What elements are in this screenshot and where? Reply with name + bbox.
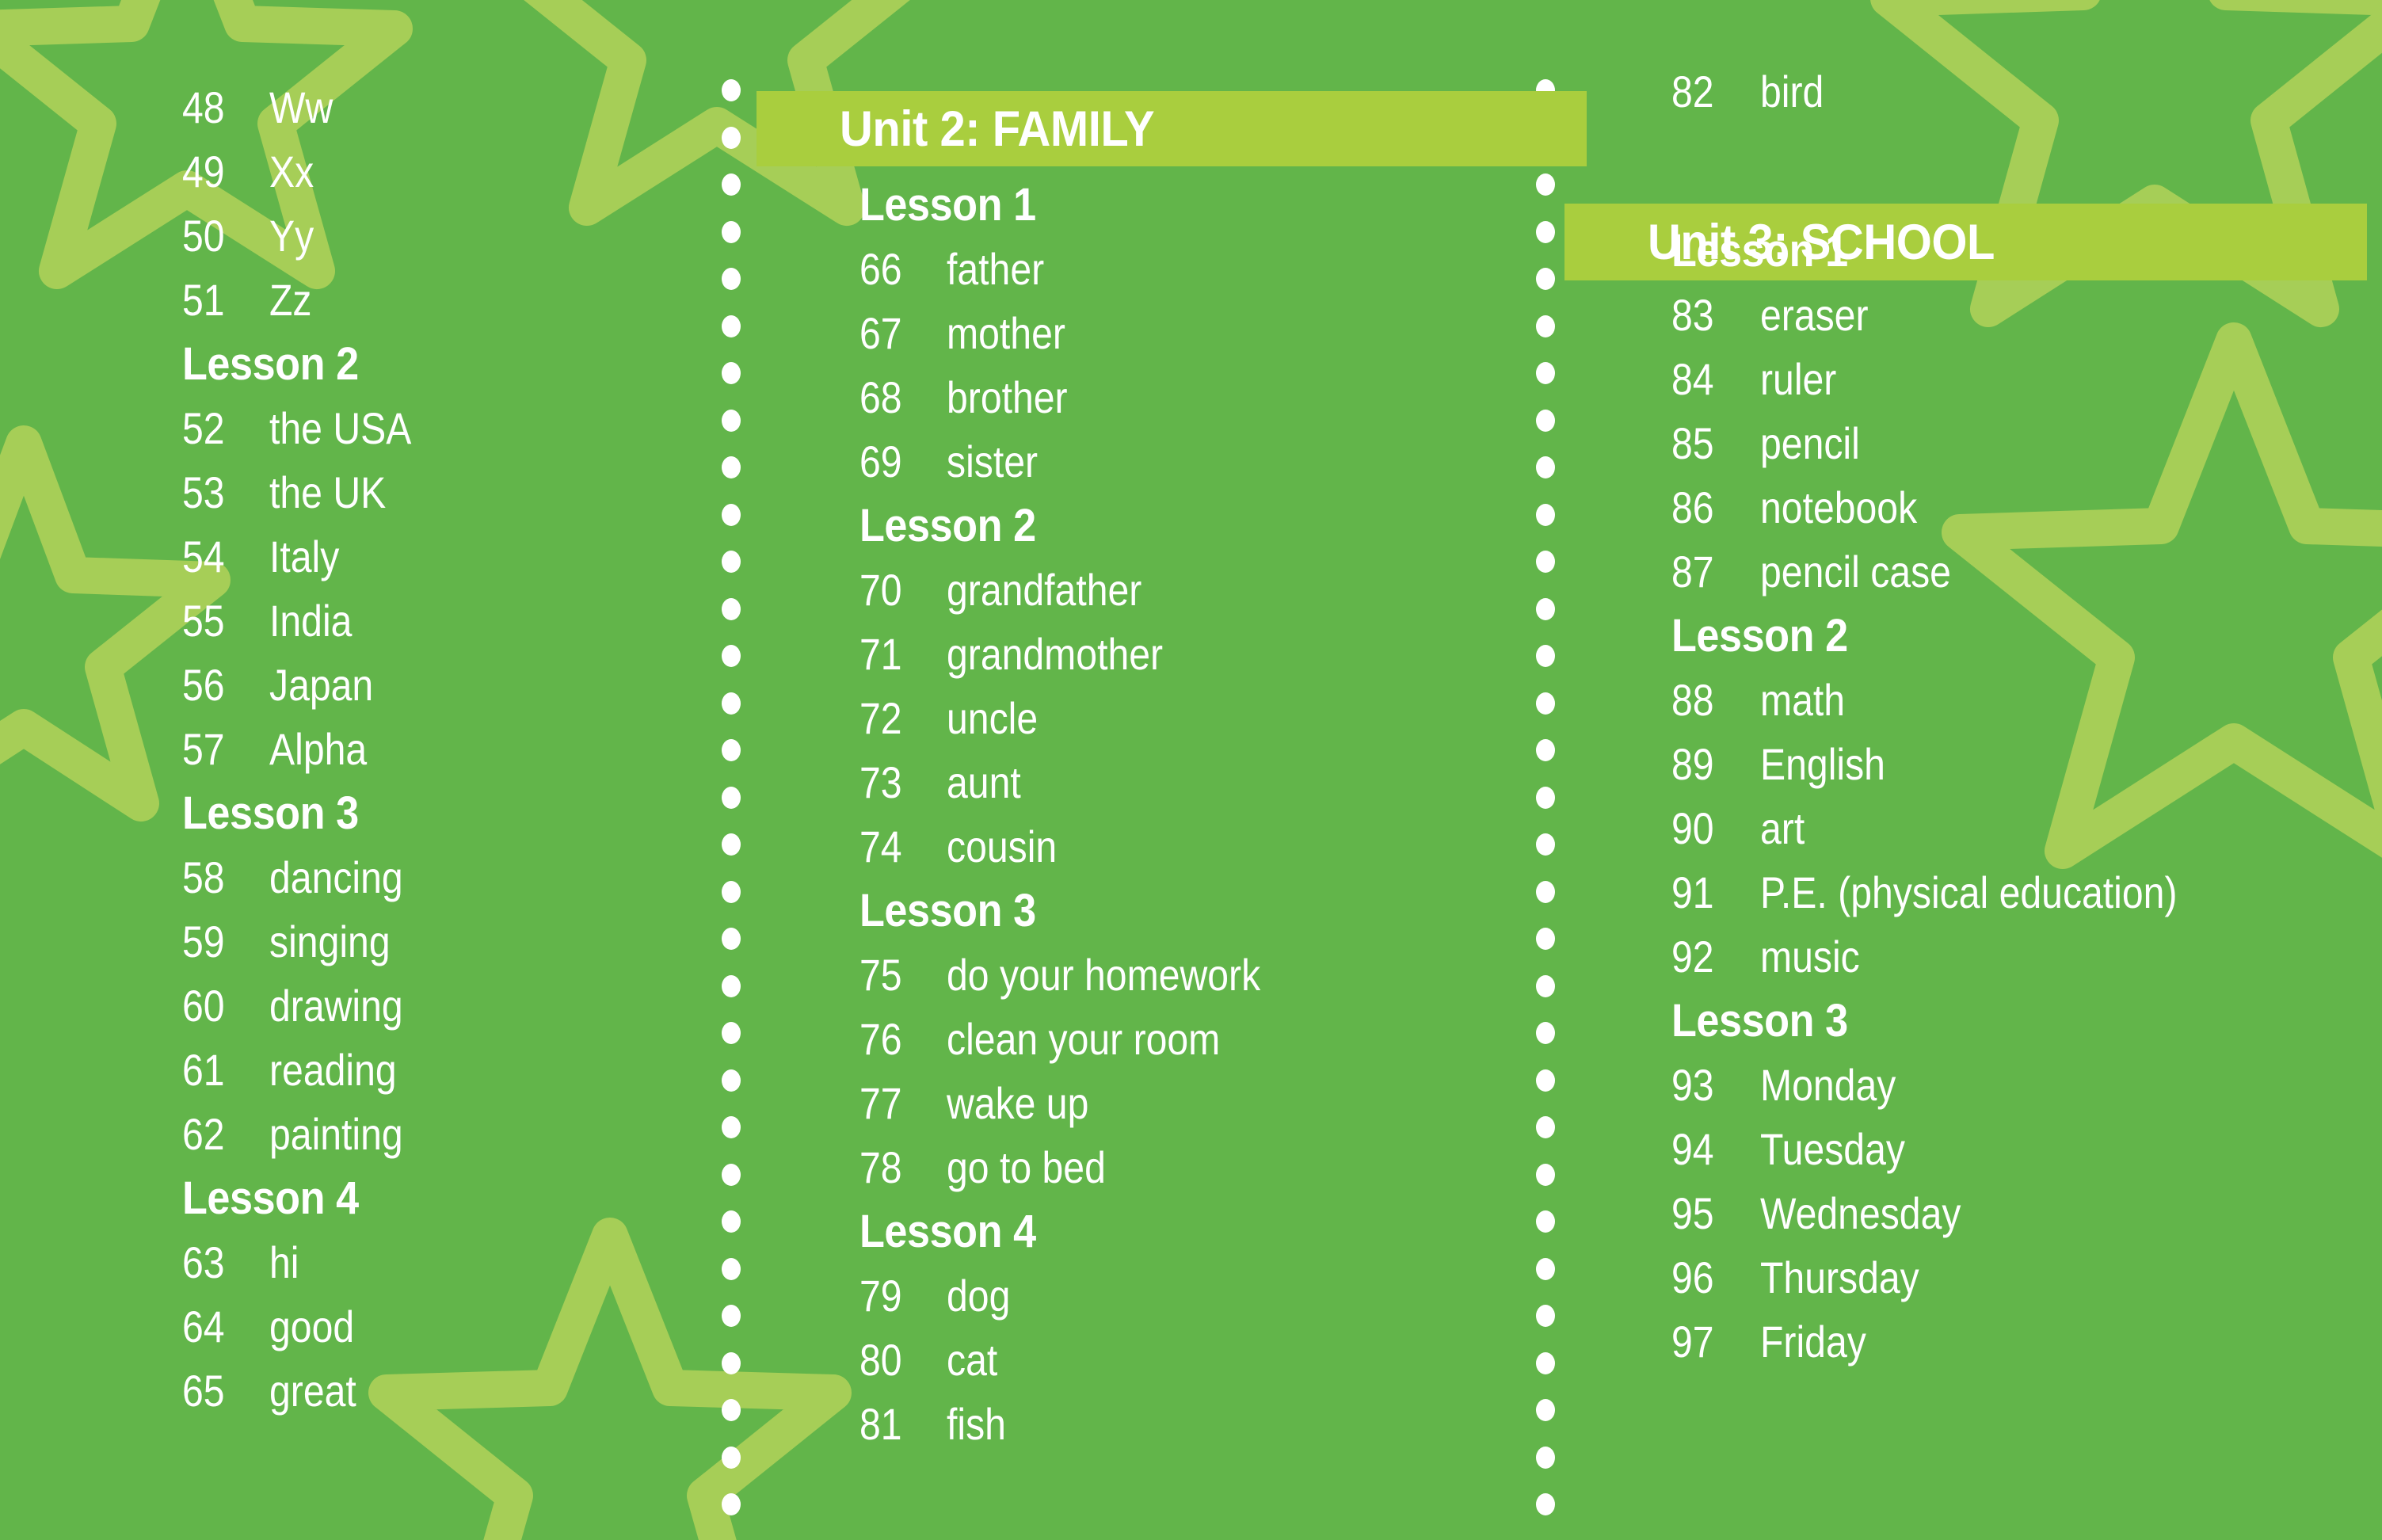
divider-dot	[1536, 504, 1555, 526]
divider-dot	[722, 692, 741, 715]
divider-dot	[1536, 928, 1555, 950]
vocab-number: 55	[182, 589, 257, 653]
divider-dot	[722, 1069, 741, 1092]
vocab-row: 69sister	[859, 429, 1525, 494]
vocab-word: Japan	[269, 653, 373, 717]
vocab-word: hi	[269, 1230, 299, 1294]
vocab-word: Zz	[269, 268, 312, 332]
vocab-number: 76	[859, 1007, 935, 1071]
divider-dot	[722, 221, 741, 243]
vocab-word: Yy	[269, 204, 314, 268]
vocab-word: Ww	[269, 75, 333, 139]
vocab-row: 66father	[859, 237, 1525, 301]
vocab-row: 49Xx	[182, 139, 705, 204]
vocab-row: 88math	[1671, 668, 2369, 732]
vocab-row: 80cat	[859, 1328, 1525, 1392]
vocab-row: 84ruler	[1671, 347, 2369, 411]
vocab-number: 49	[182, 139, 257, 204]
divider-dot	[1536, 551, 1555, 573]
vocab-column-3: 82birdLesson 183eraser84ruler85pencil86n…	[1671, 0, 2369, 1374]
vocab-row: 77wake up	[859, 1071, 1525, 1135]
divider-dot	[1536, 173, 1555, 196]
divider-dot	[1536, 1210, 1555, 1233]
vocab-column-2: Lesson 166father67mother68brother69siste…	[859, 0, 1525, 1456]
vocab-word: Friday	[1760, 1309, 1866, 1374]
divider-dot	[1536, 1447, 1555, 1469]
vocab-word: uncle	[947, 686, 1038, 750]
vocab-row: 52the USA	[182, 396, 705, 460]
vocab-row: 62painting	[182, 1102, 705, 1166]
column-divider-left	[721, 79, 741, 1473]
vocab-row: 94Tuesday	[1671, 1117, 2369, 1181]
vocab-word: English	[1760, 732, 1885, 796]
vocab-number: 79	[859, 1264, 935, 1328]
divider-dot	[722, 456, 741, 478]
vocab-row: 60drawing	[182, 974, 705, 1038]
vocab-row: 67mother	[859, 301, 1525, 365]
vocabulary-list-page: Unit 2: FAMILY Unit 3: SCHOOL 48Ww49Xx50…	[0, 0, 2382, 1540]
vocab-word: P.E. (physical education)	[1760, 860, 2177, 924]
vocab-number: 69	[859, 429, 935, 494]
vocab-row: 55India	[182, 589, 705, 653]
vocab-number: 83	[1671, 283, 1747, 347]
vocab-row: 93Monday	[1671, 1053, 2369, 1117]
vocab-number: 59	[182, 909, 257, 974]
divider-dot	[1536, 1399, 1555, 1421]
vocab-word: drawing	[269, 974, 403, 1038]
divider-dot	[1536, 645, 1555, 667]
vocab-word: pencil case	[1760, 539, 1951, 604]
vocab-word: Xx	[269, 139, 314, 204]
vocab-row: 78go to bed	[859, 1135, 1525, 1199]
vocab-number: 70	[859, 558, 935, 622]
vocab-row: 71grandmother	[859, 622, 1525, 686]
vocab-row: 48Ww	[182, 75, 705, 139]
vocab-word: singing	[269, 909, 391, 974]
vocab-word: sister	[947, 429, 1038, 494]
vocab-number: 57	[182, 717, 257, 781]
divider-dot	[722, 1258, 741, 1280]
divider-dot	[1536, 1493, 1555, 1515]
vocab-word: ruler	[1760, 347, 1836, 411]
vocab-number: 67	[859, 301, 935, 365]
vocab-word: dancing	[269, 845, 403, 909]
vocab-word: Thursday	[1760, 1245, 1919, 1309]
vocab-row: 70grandfather	[859, 558, 1525, 622]
vocab-number: 53	[182, 460, 257, 524]
vocab-row: 50Yy	[182, 204, 705, 268]
vocab-number: 89	[1671, 732, 1747, 796]
vocab-number: 86	[1671, 475, 1747, 539]
vocab-word: eraser	[1760, 283, 1869, 347]
vocab-word: good	[269, 1294, 354, 1359]
vocab-row: 53the UK	[182, 460, 705, 524]
vocab-number: 65	[182, 1359, 257, 1423]
vocab-word: music	[1760, 924, 1860, 989]
divider-dot	[722, 173, 741, 196]
divider-dot	[1536, 881, 1555, 903]
vocab-number: 56	[182, 653, 257, 717]
vocab-number: 52	[182, 396, 257, 460]
divider-dot	[722, 1116, 741, 1138]
divider-dot	[1536, 410, 1555, 432]
unit-header-gap	[1671, 124, 2369, 219]
vocab-word: painting	[269, 1102, 403, 1166]
vocab-column-1: 48Ww49Xx50Yy51ZzLesson 252the USA53the U…	[182, 0, 705, 1423]
vocab-number: 74	[859, 814, 935, 879]
divider-dot	[722, 928, 741, 950]
vocab-word: dog	[947, 1264, 1010, 1328]
vocab-row: 51Zz	[182, 268, 705, 332]
vocab-word: cousin	[947, 814, 1057, 879]
vocab-number: 90	[1671, 796, 1747, 860]
vocab-number: 54	[182, 524, 257, 589]
divider-dot	[722, 598, 741, 620]
vocab-number: 93	[1671, 1053, 1747, 1117]
divider-dot	[722, 975, 741, 997]
divider-dot	[722, 1164, 741, 1186]
divider-dot	[722, 1305, 741, 1327]
divider-dot	[722, 881, 741, 903]
divider-dot	[1536, 787, 1555, 809]
divider-dot	[1536, 598, 1555, 620]
vocab-number: 66	[859, 237, 935, 301]
vocab-word: math	[1760, 668, 1845, 732]
vocab-number: 92	[1671, 924, 1747, 989]
divider-dot	[722, 645, 741, 667]
vocab-word: the USA	[269, 396, 411, 460]
vocab-word: Alpha	[269, 717, 367, 781]
vocab-word: go to bed	[947, 1135, 1106, 1199]
lesson-heading: Lesson 3	[182, 781, 653, 845]
lesson-heading: Lesson 4	[182, 1166, 653, 1230]
vocab-word: bird	[1760, 59, 1824, 124]
divider-dot	[722, 1352, 741, 1374]
vocab-row: 59singing	[182, 909, 705, 974]
vocab-word: pencil	[1760, 411, 1860, 475]
divider-dot	[1536, 1352, 1555, 1374]
vocab-row: 65great	[182, 1359, 705, 1423]
divider-dot	[722, 787, 741, 809]
vocab-word: father	[947, 237, 1044, 301]
vocab-number: 68	[859, 365, 935, 429]
divider-dot	[722, 127, 741, 149]
vocab-word: art	[1760, 796, 1805, 860]
divider-dot	[1536, 1069, 1555, 1092]
vocab-word: brother	[947, 365, 1068, 429]
divider-dot	[722, 739, 741, 761]
column-divider-right	[1535, 79, 1556, 1473]
vocab-row: 97Friday	[1671, 1309, 2369, 1374]
divider-dot	[722, 362, 741, 384]
vocab-number: 77	[859, 1071, 935, 1135]
vocab-word: do your homework	[947, 943, 1260, 1007]
divider-dot	[1536, 1164, 1555, 1186]
vocab-number: 50	[182, 204, 257, 268]
vocab-word: Wednesday	[1760, 1181, 1961, 1245]
divider-dot	[722, 1493, 741, 1515]
vocab-word: grandmother	[947, 622, 1163, 686]
lesson-heading: Lesson 2	[859, 494, 1458, 558]
vocab-number: 63	[182, 1230, 257, 1294]
vocab-number: 58	[182, 845, 257, 909]
divider-dot	[722, 1399, 741, 1421]
vocab-row: 63hi	[182, 1230, 705, 1294]
vocab-word: fish	[947, 1392, 1006, 1456]
vocab-word: Tuesday	[1760, 1117, 1905, 1181]
vocab-number: 73	[859, 750, 935, 814]
vocab-number: 78	[859, 1135, 935, 1199]
vocab-word: notebook	[1760, 475, 1917, 539]
vocab-number: 97	[1671, 1309, 1747, 1374]
divider-dot	[1536, 1116, 1555, 1138]
vocab-word: the UK	[269, 460, 386, 524]
divider-dot	[722, 1022, 741, 1044]
vocab-row: 95Wednesday	[1671, 1181, 2369, 1245]
divider-dot	[1536, 315, 1555, 337]
vocab-row: 57Alpha	[182, 717, 705, 781]
lesson-heading: Lesson 2	[1671, 604, 2299, 668]
vocab-row: 87pencil case	[1671, 539, 2369, 604]
lesson-heading: Lesson 4	[859, 1199, 1458, 1264]
divider-dot	[722, 315, 741, 337]
vocab-number: 84	[1671, 347, 1747, 411]
vocab-number: 64	[182, 1294, 257, 1359]
vocab-number: 88	[1671, 668, 1747, 732]
divider-dot	[722, 1210, 741, 1233]
vocab-word: mother	[947, 301, 1065, 365]
vocab-row: 61reading	[182, 1038, 705, 1102]
divider-dot	[1536, 975, 1555, 997]
vocab-word: reading	[269, 1038, 397, 1102]
vocab-row: 85pencil	[1671, 411, 2369, 475]
vocab-word: India	[269, 589, 352, 653]
vocab-word: aunt	[947, 750, 1021, 814]
divider-dot	[722, 1447, 741, 1469]
divider-dot	[722, 833, 741, 856]
vocab-row: 54Italy	[182, 524, 705, 589]
divider-dot	[722, 504, 741, 526]
vocab-number: 71	[859, 622, 935, 686]
divider-dot	[1536, 456, 1555, 478]
vocab-row: 73aunt	[859, 750, 1525, 814]
divider-dot	[1536, 1258, 1555, 1280]
divider-dot	[1536, 833, 1555, 856]
divider-dot	[1536, 692, 1555, 715]
vocab-row: 64good	[182, 1294, 705, 1359]
vocab-number: 62	[182, 1102, 257, 1166]
vocab-number: 82	[1671, 59, 1747, 124]
vocab-number: 85	[1671, 411, 1747, 475]
vocab-word: wake up	[947, 1071, 1088, 1135]
lesson-heading: Lesson 1	[859, 173, 1458, 237]
vocab-number: 94	[1671, 1117, 1747, 1181]
divider-dot	[1536, 268, 1555, 290]
divider-dot	[1536, 221, 1555, 243]
vocab-word: clean your room	[947, 1007, 1220, 1071]
vocab-row: 76clean your room	[859, 1007, 1525, 1071]
divider-dot	[1536, 1305, 1555, 1327]
vocab-number: 75	[859, 943, 935, 1007]
vocab-row: 74cousin	[859, 814, 1525, 879]
vocab-number: 60	[182, 974, 257, 1038]
vocab-number: 48	[182, 75, 257, 139]
vocab-number: 81	[859, 1392, 935, 1456]
vocab-number: 72	[859, 686, 935, 750]
vocab-row: 89English	[1671, 732, 2369, 796]
vocab-row: 92music	[1671, 924, 2369, 989]
vocab-number: 96	[1671, 1245, 1747, 1309]
vocab-row: 81fish	[859, 1392, 1525, 1456]
divider-dot	[1536, 1022, 1555, 1044]
divider-dot	[722, 268, 741, 290]
vocab-number: 61	[182, 1038, 257, 1102]
vocab-row: 56Japan	[182, 653, 705, 717]
vocab-row: 72uncle	[859, 686, 1525, 750]
vocab-number: 87	[1671, 539, 1747, 604]
vocab-row: 68brother	[859, 365, 1525, 429]
divider-dot	[1536, 362, 1555, 384]
vocab-number: 51	[182, 268, 257, 332]
vocab-number: 80	[859, 1328, 935, 1392]
vocab-row: 90art	[1671, 796, 2369, 860]
lesson-heading: Lesson 3	[859, 879, 1458, 943]
vocab-word: Monday	[1760, 1053, 1896, 1117]
vocab-row: 58dancing	[182, 845, 705, 909]
vocab-word: cat	[947, 1328, 997, 1392]
vocab-row: 79dog	[859, 1264, 1525, 1328]
vocab-row: 82bird	[1671, 59, 2369, 124]
vocab-row: 75do your homework	[859, 943, 1525, 1007]
vocab-word: great	[269, 1359, 356, 1423]
divider-dot	[722, 551, 741, 573]
divider-dot	[722, 410, 741, 432]
divider-dot	[722, 79, 741, 101]
vocab-row: 91P.E. (physical education)	[1671, 860, 2369, 924]
divider-dot	[1536, 739, 1555, 761]
vocab-row: 96Thursday	[1671, 1245, 2369, 1309]
lesson-heading: Lesson 3	[1671, 989, 2299, 1053]
vocab-row: 86notebook	[1671, 475, 2369, 539]
vocab-number: 91	[1671, 860, 1747, 924]
vocab-row: 83eraser	[1671, 283, 2369, 347]
vocab-word: grandfather	[947, 558, 1141, 622]
vocab-word: Italy	[269, 524, 339, 589]
lesson-heading: Lesson 2	[182, 332, 653, 396]
lesson-heading: Lesson 1	[1671, 219, 2299, 283]
vocab-number: 95	[1671, 1181, 1747, 1245]
